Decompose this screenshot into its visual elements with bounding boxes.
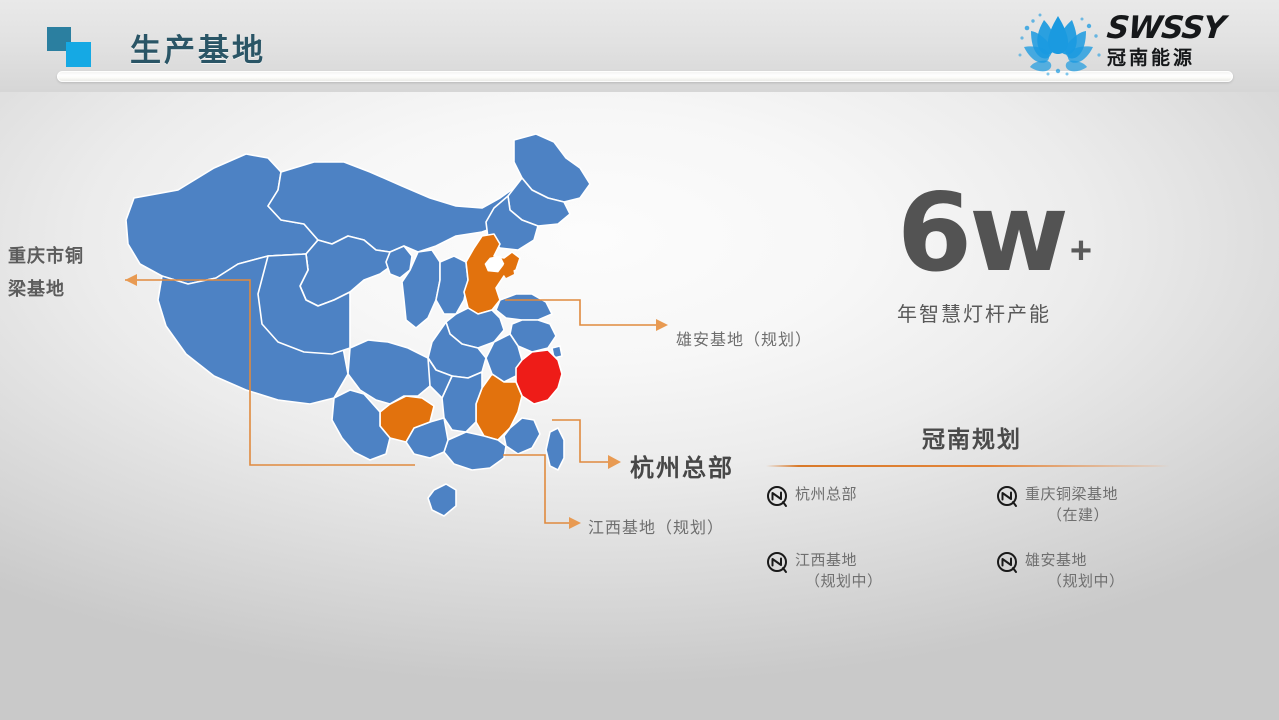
stat-suffix: + [1070,220,1092,282]
province-shandong [496,294,552,320]
circle-wave-icon [996,485,1020,509]
callout-chongqing-line2: 梁基地 [8,273,118,306]
legend-sublabel: （规划中） [795,571,883,592]
slide-canvas: 生产基地 [0,0,1279,720]
legend-label: 重庆铜梁基地 [1025,484,1118,505]
callout-chongqing: 重庆市铜 梁基地 [8,240,118,306]
province-taiwan [546,428,564,470]
legend-item-xiongan[interactable]: 雄安基地 （规划中） [996,550,1178,592]
province-shanxi [436,256,468,314]
circle-wave-icon [766,485,790,509]
circle-wave-icon [996,551,1020,575]
brand-logo: SWSSY 冠南能源 [1015,8,1265,80]
callout-chongqing-line1: 重庆市铜 [8,240,118,273]
legend-rule [766,465,1170,467]
callout-jiangxi: 江西基地（规划） [588,514,724,538]
legend-panel: 冠南规划 杭州总部 [766,420,1178,592]
water-droplet-burst-icon [1015,10,1103,78]
capacity-stat: 6w + 年智慧灯杆产能 [897,186,1217,327]
circle-wave-icon [766,551,790,575]
logo-name: SWSSY [1105,12,1268,44]
header-square-bright-icon [66,42,91,67]
callout-hangzhou: 杭州总部 [630,448,734,483]
logo-subtitle: 冠南能源 [1107,47,1267,69]
legend-item-jiangxi[interactable]: 江西基地 （规划中） [766,550,996,592]
legend-label: 雄安基地 [1025,550,1125,571]
page-title: 生产基地 [130,25,266,70]
callout-xiongan: 雄安基地（规划） [676,326,812,350]
legend-item-chongqing[interactable]: 重庆铜梁基地 （在建） [996,484,1178,526]
legend-sublabel: （在建） [1025,505,1118,526]
legend-grid: 杭州总部 重庆铜梁基地 （在建） [766,484,1178,592]
china-map-svg [118,128,678,558]
china-map [118,128,678,558]
stat-value: 6w [897,186,1066,282]
legend-title: 冠南规划 [766,420,1178,454]
province-zhejiang-hq [516,350,562,404]
legend-sublabel: （规划中） [1025,571,1125,592]
legend-label: 杭州总部 [795,484,857,505]
legend-item-hangzhou[interactable]: 杭州总部 [766,484,996,526]
stat-caption: 年智慧灯杆产能 [897,298,1217,327]
province-hainan [428,484,456,516]
legend-label: 江西基地 [795,550,883,571]
